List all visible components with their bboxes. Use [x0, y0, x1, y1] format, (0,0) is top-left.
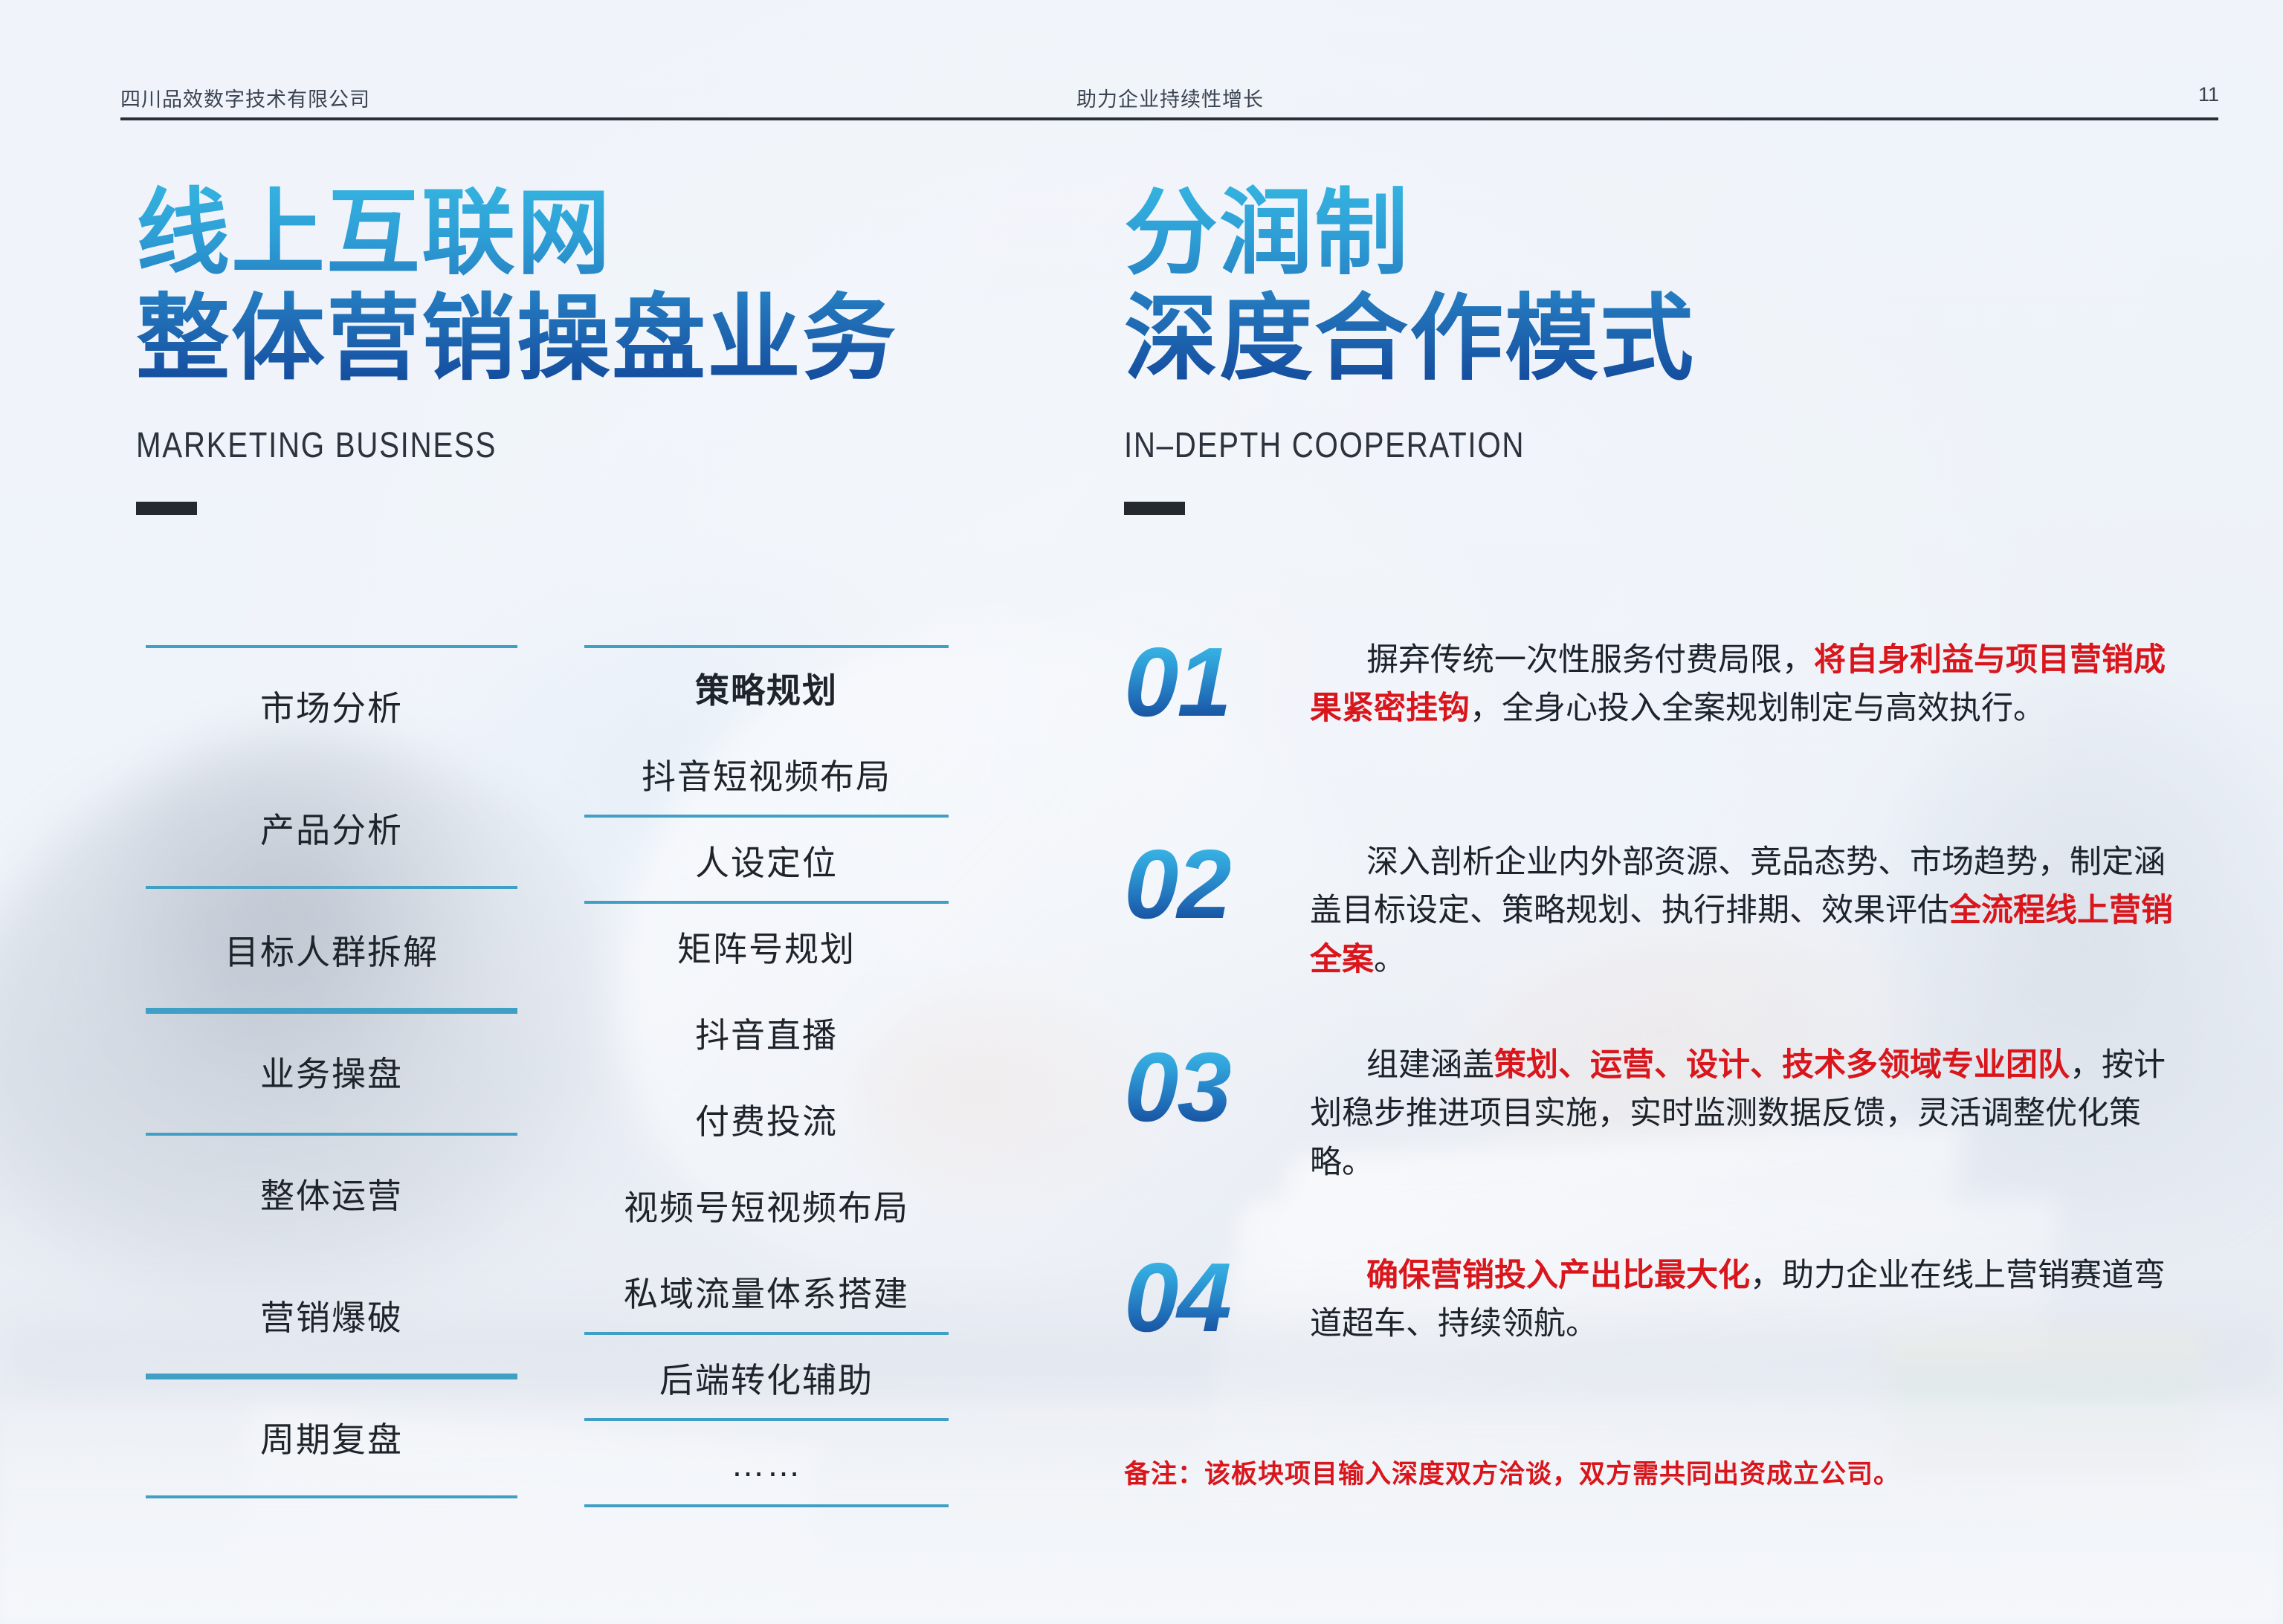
- service-list-item-label: 抖音直播: [695, 1009, 838, 1058]
- step-number: 02: [1124, 835, 1230, 934]
- step-number: 03: [1124, 1038, 1230, 1136]
- service-list-item-label: 营销爆破: [260, 1291, 403, 1340]
- left-panel-subtitle: MARKETING BUSINESS: [136, 425, 948, 466]
- list-item-rule-bottom: [584, 1504, 949, 1507]
- list-item-rule-top: [584, 645, 949, 648]
- step-highlight-text: 确保营销投入产出比最大化: [1366, 1258, 1750, 1293]
- list-item-rule-top: [146, 1011, 517, 1014]
- service-list-item[interactable]: ……: [584, 1421, 949, 1507]
- service-list-item[interactable]: 整体运营: [146, 1133, 517, 1255]
- service-list-item[interactable]: 市场分析: [146, 645, 517, 767]
- cooperation-step: 04确保营销投入产出比最大化，助力企业在线上营销赛道弯道超车、持续领航。: [1124, 1252, 2187, 1349]
- page-number: 11: [2198, 83, 2219, 106]
- step-description: 深入剖析企业内外部资源、竞品态势、市场趋势，制定涵盖目标设定、策略规划、执行排期…: [1310, 838, 2187, 984]
- step-highlight-text: 策划、运营、设计、技术多领域专业团队: [1494, 1047, 2070, 1083]
- service-list-item-label: 抖音短视频布局: [642, 750, 891, 799]
- right-panel-heading-group: 分润制 深度合作模式 IN–DEPTH COOPERATION: [1124, 181, 2180, 515]
- step-text: 摒弃传统一次性服务付费局限，: [1366, 642, 1814, 678]
- cooperation-step: 01摒弃传统一次性服务付费局限，将自身利益与项目营销成果紧密挂钩，全身心投入全案…: [1124, 636, 2187, 734]
- service-list-item[interactable]: 后端转化辅助: [584, 1335, 949, 1421]
- service-list-item[interactable]: 目标人群拆解: [146, 889, 517, 1011]
- service-list-item-label: 后端转化辅助: [659, 1353, 874, 1403]
- step-description: 确保营销投入产出比最大化，助力企业在线上营销赛道弯道超车、持续领航。: [1310, 1252, 2187, 1349]
- left-panel-heading-group: 线上互联网 整体营销操盘业务 MARKETING BUSINESS: [136, 181, 1102, 515]
- service-list-item[interactable]: 视频号短视频布局: [584, 1162, 949, 1249]
- cooperation-step: 02深入剖析企业内外部资源、竞品态势、市场趋势，制定涵盖目标设定、策略规划、执行…: [1124, 838, 2187, 984]
- left-panel-title: 线上互联网 整体营销操盘业务: [136, 181, 1102, 392]
- step-description: 组建涵盖策划、运营、设计、技术多领域专业团队，按计划稳步推进项目实施，实时监测数…: [1310, 1041, 2187, 1187]
- step-description: 摒弃传统一次性服务付费局限，将自身利益与项目营销成果紧密挂钩，全身心投入全案规划…: [1310, 636, 2187, 734]
- list-item-rule-top: [146, 1376, 517, 1379]
- step-text: ，全身心投入全案规划制定与高效执行。: [1470, 690, 2045, 726]
- cooperation-note: 备注：该板块项目输入深度双方洽谈，双方需共同出资成立公司。: [1124, 1453, 1900, 1491]
- page-header: 四川品效数字技术有限公司 助力企业持续性增长 11: [0, 83, 2283, 128]
- service-list-item[interactable]: 人设定位: [584, 818, 949, 904]
- right-panel-accent-dash: [1124, 502, 1185, 515]
- service-list-item-label: 策略规划: [695, 664, 838, 713]
- service-list-item[interactable]: 策略规划: [584, 645, 949, 731]
- service-list-item-label: 产品分析: [260, 803, 403, 853]
- service-list-item-label: 人设定位: [695, 836, 838, 885]
- service-list-item-label: 市场分析: [260, 682, 403, 731]
- service-list-item[interactable]: 营销爆破: [146, 1255, 517, 1376]
- service-list-item-label: 私域流量体系搭建: [624, 1267, 909, 1316]
- service-list-item-label: 整体运营: [260, 1169, 403, 1218]
- right-panel-subtitle: IN–DEPTH COOPERATION: [1124, 425, 2011, 466]
- service-list-item-label: 视频号短视频布局: [624, 1181, 909, 1230]
- list-item-rule-bottom: [146, 1495, 517, 1498]
- cooperation-step: 03组建涵盖策划、运营、设计、技术多领域专业团队，按计划稳步推进项目实施，实时监…: [1124, 1041, 2187, 1187]
- service-lists: 市场分析产品分析目标人群拆解业务操盘整体运营营销爆破周期复盘 策略规划抖音短视频…: [0, 645, 1041, 1507]
- list-item-rule-top: [146, 1133, 517, 1136]
- header-tagline: 助力企业持续性增长: [1076, 83, 1264, 112]
- service-list-item-label: 矩阵号规划: [677, 922, 856, 971]
- right-panel-title: 分润制 深度合作模式: [1124, 181, 2180, 392]
- header-company-name: 四川品效数字技术有限公司: [120, 83, 370, 112]
- service-list-item[interactable]: 业务操盘: [146, 1011, 517, 1133]
- service-list-item[interactable]: 矩阵号规划: [584, 904, 949, 990]
- step-number: 04: [1124, 1249, 1230, 1347]
- service-list-item[interactable]: 私域流量体系搭建: [584, 1249, 949, 1335]
- slide-canvas: 四川品效数字技术有限公司 助力企业持续性增长 11 线上互联网 整体营销操盘业务…: [0, 0, 2283, 1624]
- service-list-item-label: 目标人群拆解: [225, 925, 439, 974]
- service-list-item[interactable]: 产品分析: [146, 767, 517, 889]
- step-number: 01: [1124, 633, 1230, 731]
- service-list-item[interactable]: 周期复盘: [146, 1376, 517, 1498]
- service-list-item[interactable]: 抖音短视频布局: [584, 731, 949, 818]
- header-divider-rule: [120, 117, 2218, 120]
- service-list-column-2: 策略规划抖音短视频布局人设定位矩阵号规划抖音直播付费投流视频号短视频布局私域流量…: [584, 645, 949, 1507]
- step-text: 。: [1374, 942, 1406, 977]
- service-list-item[interactable]: 付费投流: [584, 1076, 949, 1162]
- service-list-item-label: 周期复盘: [260, 1413, 403, 1462]
- service-list-item-label: ……: [731, 1444, 802, 1484]
- list-item-rule-top: [146, 645, 517, 648]
- service-list-column-1: 市场分析产品分析目标人群拆解业务操盘整体运营营销爆破周期复盘: [146, 645, 517, 1498]
- service-list-item-label: 付费投流: [695, 1095, 838, 1144]
- left-panel-accent-dash: [136, 502, 197, 515]
- service-list-item-label: 业务操盘: [260, 1047, 403, 1096]
- service-list-item[interactable]: 抖音直播: [584, 990, 949, 1076]
- step-text: 组建涵盖: [1366, 1047, 1494, 1083]
